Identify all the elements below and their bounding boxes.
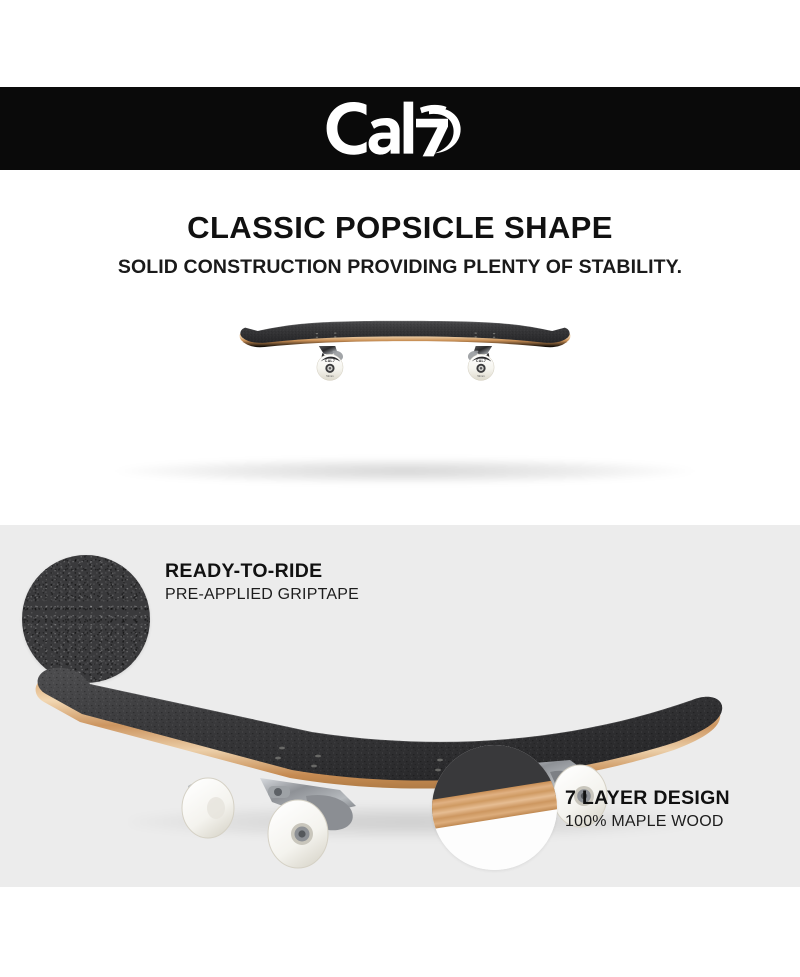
maple-layers-closeup xyxy=(432,745,557,870)
rear-wheel: CAL7 52mm xyxy=(468,354,494,380)
section-classic-popsicle-shape: CLASSIC POPSICLE SHAPE SOLID CONSTRUCTIO… xyxy=(0,170,800,525)
callout-title-ready-to-ride: READY-TO-RIDE xyxy=(165,560,465,582)
callout-7-layer-design: 7 LAYER DESIGN 100% MAPLE WOOD xyxy=(565,787,800,832)
top-margin xyxy=(0,0,800,87)
cal7-logo-icon xyxy=(325,101,475,157)
skateboard-side-illustration: CAL7 52mm CAL7 xyxy=(55,316,755,408)
rear-wheel-near-perspective xyxy=(268,800,328,868)
page-subtitle: SOLID CONSTRUCTION PROVIDING PLENTY OF S… xyxy=(0,256,800,279)
svg-text:52mm: 52mm xyxy=(326,374,334,378)
board-shadow xyxy=(115,458,695,484)
skateboard-side-view: CAL7 52mm CAL7 xyxy=(55,310,755,500)
product-marketing-page: Cal7 CLASSIC POPSICLE SHAPE SOLID CONSTR… xyxy=(0,0,800,977)
svg-text:CAL7: CAL7 xyxy=(476,359,486,363)
brand-banner: Cal7 xyxy=(0,87,800,170)
cal7-logo: Cal7 xyxy=(325,101,475,157)
svg-text:52mm: 52mm xyxy=(477,374,485,378)
section-features: READY-TO-RIDE PRE-APPLIED GRIPTAPE xyxy=(0,525,800,887)
callout-title-7-layer-design: 7 LAYER DESIGN xyxy=(565,787,800,809)
skateboard-perspective-illustration xyxy=(10,590,790,880)
front-wheel: CAL7 52mm xyxy=(317,354,343,380)
callout-subtitle-maple-wood: 100% MAPLE WOOD xyxy=(565,812,800,831)
skateboard-perspective-view xyxy=(10,590,790,880)
bottom-margin xyxy=(0,887,800,977)
page-title: CLASSIC POPSICLE SHAPE xyxy=(0,212,800,245)
svg-text:CAL7: CAL7 xyxy=(325,359,335,363)
front-wheel-perspective xyxy=(182,778,234,838)
